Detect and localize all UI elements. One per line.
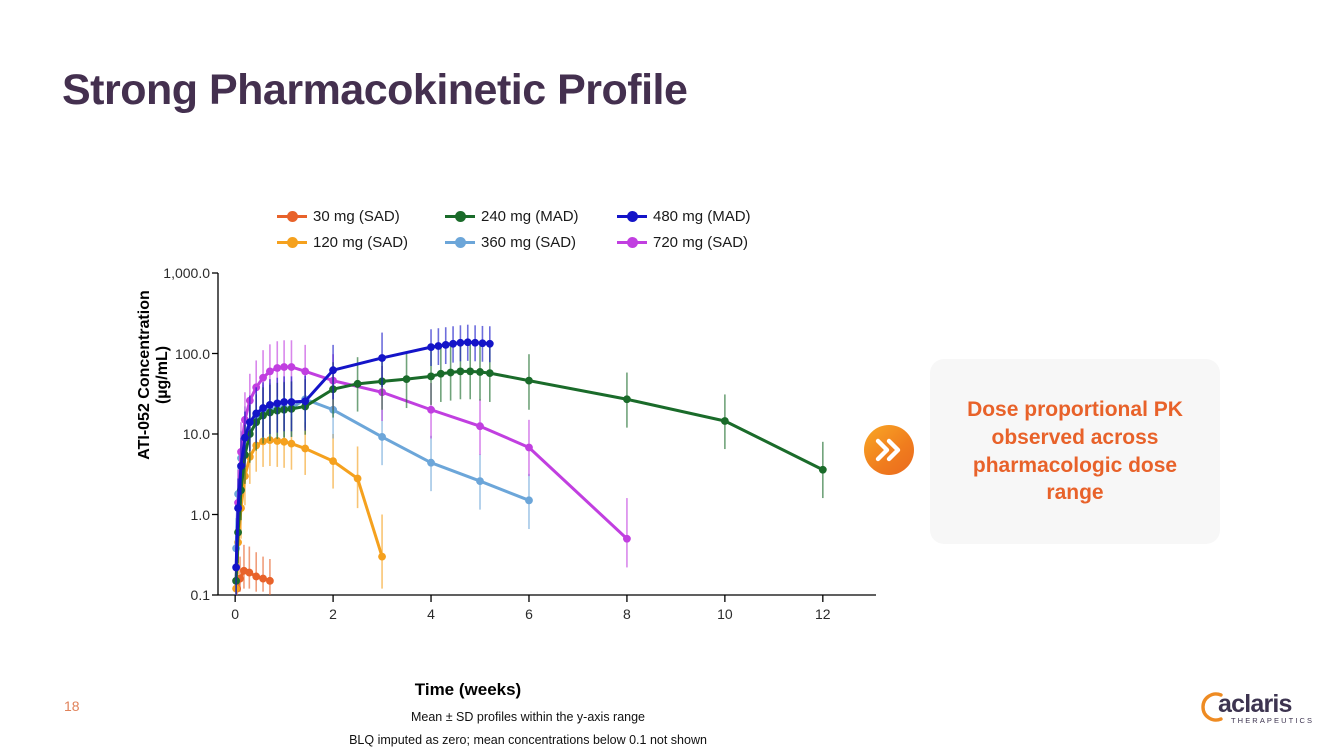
x-axis-label: Time (weeks): [218, 680, 718, 700]
data-point: [329, 457, 337, 465]
data-point: [427, 406, 435, 414]
data-point: [449, 340, 457, 348]
page-title: Strong Pharmacokinetic Profile: [62, 66, 687, 115]
x-axis-tick-label: 2: [329, 606, 337, 622]
data-point: [288, 440, 296, 448]
data-point: [280, 398, 288, 406]
data-point: [246, 418, 254, 426]
data-point: [280, 438, 288, 446]
data-point: [259, 404, 267, 412]
legend-marker-icon: [277, 236, 307, 248]
legend-label: 30 mg (SAD): [313, 208, 400, 225]
data-point: [232, 564, 240, 572]
legend-label: 480 mg (MAD): [653, 208, 751, 225]
data-point: [252, 573, 260, 581]
data-point: [288, 363, 296, 371]
chart-legend: 30 mg (SAD)240 mg (MAD)480 mg (MAD)120 m…: [277, 203, 797, 255]
legend-item-120-mg-sad-: 120 mg (SAD): [277, 229, 445, 255]
aclaris-logo: aclaris THERAPEUTICS: [1196, 690, 1306, 732]
data-point: [301, 367, 309, 375]
x-axis-tick-label: 10: [717, 606, 733, 622]
data-point: [378, 354, 386, 362]
legend-item-30-mg-sad-: 30 mg (SAD): [277, 203, 445, 229]
data-point: [471, 339, 479, 347]
data-point: [486, 340, 494, 348]
data-point: [273, 364, 281, 372]
data-point: [437, 370, 445, 378]
data-point: [457, 367, 465, 375]
data-point: [266, 401, 274, 409]
y-axis-tick-label: 100.0: [134, 346, 210, 362]
legend-item-480-mg-mad-: 480 mg (MAD): [617, 203, 797, 229]
slide-root: Strong Pharmacokinetic Profile 30 mg (SA…: [0, 0, 1333, 749]
y-axis-tick-label: 0.1: [134, 587, 210, 603]
legend-label: 720 mg (SAD): [653, 234, 748, 251]
callout-box: Dose proportional PK observed across pha…: [930, 359, 1220, 544]
legend-label: 240 mg (MAD): [481, 208, 579, 225]
x-axis-tick-label: 6: [525, 606, 533, 622]
legend-marker-icon: [277, 210, 307, 222]
data-point: [378, 433, 386, 441]
data-point: [354, 380, 362, 388]
data-point: [259, 575, 267, 583]
data-point: [442, 341, 450, 349]
data-point: [241, 434, 249, 442]
pk-chart: 30 mg (SAD)240 mg (MAD)480 mg (MAD)120 m…: [62, 195, 882, 685]
legend-marker-icon: [617, 236, 647, 248]
data-point: [427, 343, 435, 351]
plot-area: ATI-052 Concentration (µg/mL) Time (week…: [62, 265, 882, 615]
data-point: [476, 422, 484, 430]
legend-marker-icon: [445, 236, 475, 248]
legend-label: 360 mg (SAD): [481, 234, 576, 251]
footnote-2: BLQ imputed as zero; mean concentrations…: [218, 733, 838, 747]
data-point: [252, 410, 260, 418]
y-axis-tick-label: 1,000.0: [134, 265, 210, 281]
legend-item-720-mg-sad-: 720 mg (SAD): [617, 229, 797, 255]
data-point: [266, 577, 274, 585]
legend-marker-icon: [617, 210, 647, 222]
data-point: [464, 338, 472, 346]
double-chevron-right-icon: [864, 425, 914, 475]
data-point: [259, 374, 267, 382]
x-axis-tick-label: 4: [427, 606, 435, 622]
data-point: [237, 462, 245, 470]
data-point: [234, 504, 242, 512]
x-axis-tick-label: 0: [231, 606, 239, 622]
legend-item-240-mg-mad-: 240 mg (MAD): [445, 203, 617, 229]
data-point: [427, 459, 435, 467]
y-axis-tick-label: 10.0: [134, 426, 210, 442]
data-point: [273, 399, 281, 407]
data-point: [525, 444, 533, 452]
data-point: [447, 369, 455, 377]
data-point: [434, 342, 442, 350]
data-point: [819, 466, 827, 474]
callout-text: Dose proportional PK observed across pha…: [950, 396, 1200, 507]
data-point: [525, 496, 533, 504]
data-point: [378, 553, 386, 561]
data-point: [457, 339, 465, 347]
data-point: [280, 363, 288, 371]
data-point: [623, 395, 631, 403]
page-number: 18: [64, 698, 80, 714]
legend-marker-icon: [445, 210, 475, 222]
data-point: [623, 535, 631, 543]
data-point: [403, 375, 411, 383]
footnote-1: Mean ± SD profiles within the y-axis ran…: [218, 710, 838, 724]
data-point: [721, 417, 729, 425]
data-point: [476, 477, 484, 485]
data-point: [329, 366, 337, 374]
y-axis-tick-label: 1.0: [134, 507, 210, 523]
logo-subtitle: THERAPEUTICS: [1231, 716, 1314, 725]
x-axis-tick-label: 8: [623, 606, 631, 622]
logo-wordmark: aclaris: [1218, 690, 1292, 719]
data-point: [354, 475, 362, 483]
data-point: [479, 339, 487, 347]
data-point: [266, 367, 274, 375]
data-point: [427, 372, 435, 380]
data-point: [486, 369, 494, 377]
data-point: [288, 398, 296, 406]
data-point: [301, 445, 309, 453]
legend-item-360-mg-sad-: 360 mg (SAD): [445, 229, 617, 255]
legend-label: 120 mg (SAD): [313, 234, 408, 251]
data-point: [525, 377, 533, 385]
data-point: [466, 367, 474, 375]
x-axis-tick-label: 12: [815, 606, 831, 622]
data-point: [476, 368, 484, 376]
data-point: [301, 397, 309, 405]
data-point: [245, 569, 253, 577]
